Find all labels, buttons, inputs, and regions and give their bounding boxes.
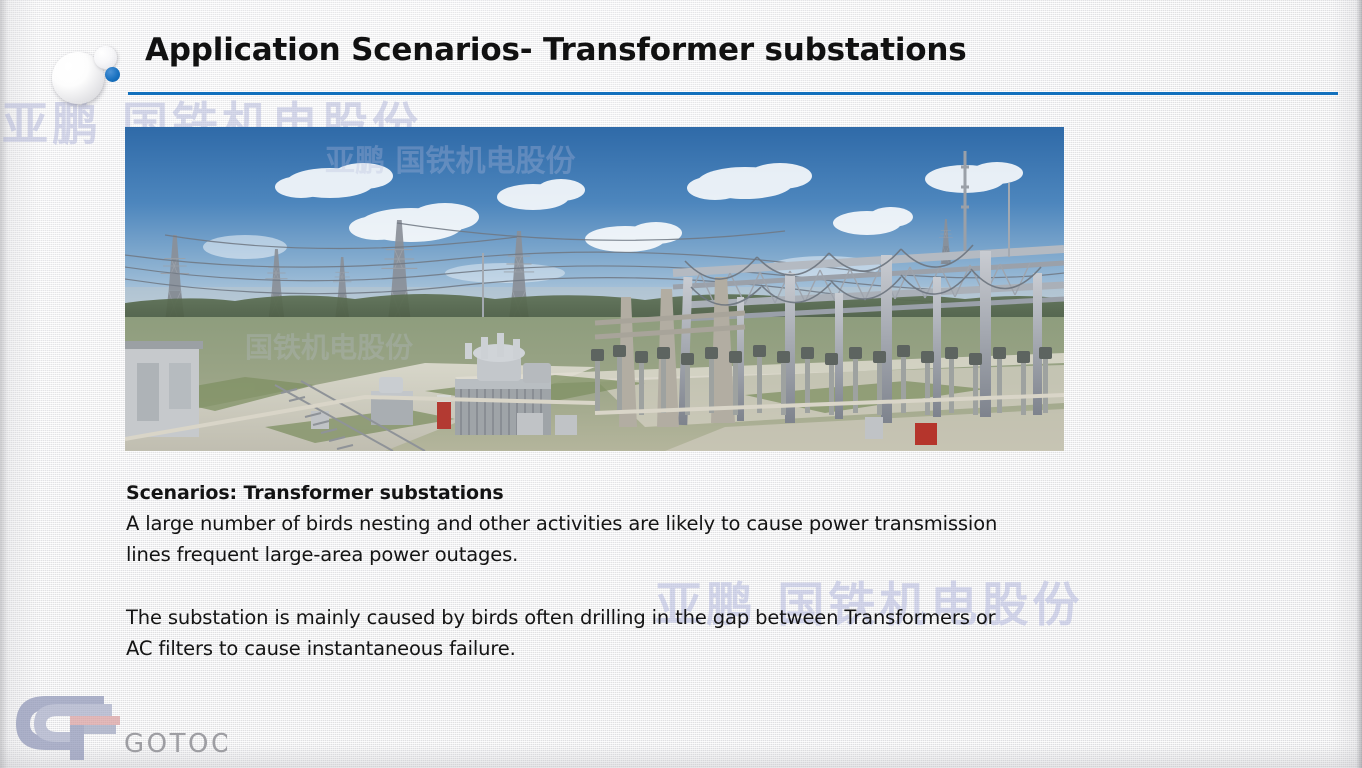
substation-photo: 亚鹏 国铁机电股份 国铁机电股份 (125, 127, 1064, 451)
slide-body-text: Scenarios: Transformer substations A lar… (126, 479, 1006, 664)
body-paragraph-1: A large number of birds nesting and othe… (126, 508, 1006, 570)
svg-text:亚鹏 国铁机电股份: 亚鹏 国铁机电股份 (325, 144, 575, 179)
presentation-slide: 国铁机电股份 亚鹏 国铁机电股份 亚鹏 国铁机电股份 Application S… (0, 0, 1362, 768)
decorative-circles (48, 44, 138, 106)
body-paragraph-2: The substation is mainly caused by birds… (126, 602, 1006, 664)
gotoo-logo-svg: GOTOO (12, 692, 227, 762)
gotoo-wordmark: GOTOO (124, 729, 227, 759)
paragraph-spacer (126, 570, 1006, 602)
gotoo-logo: GOTOO (12, 692, 227, 762)
title-underline-rule (128, 92, 1338, 95)
substation-photo-illustration: 亚鹏 国铁机电股份 国铁机电股份 (125, 127, 1064, 451)
small-circle-icon (94, 46, 117, 69)
gf-mark-icon (16, 696, 120, 760)
slide-title: Application Scenarios- Transformer subst… (145, 32, 966, 68)
svg-text:国铁机电股份: 国铁机电股份 (245, 331, 413, 364)
body-heading: Scenarios: Transformer substations (126, 479, 1006, 507)
blue-dot-icon (105, 67, 120, 82)
